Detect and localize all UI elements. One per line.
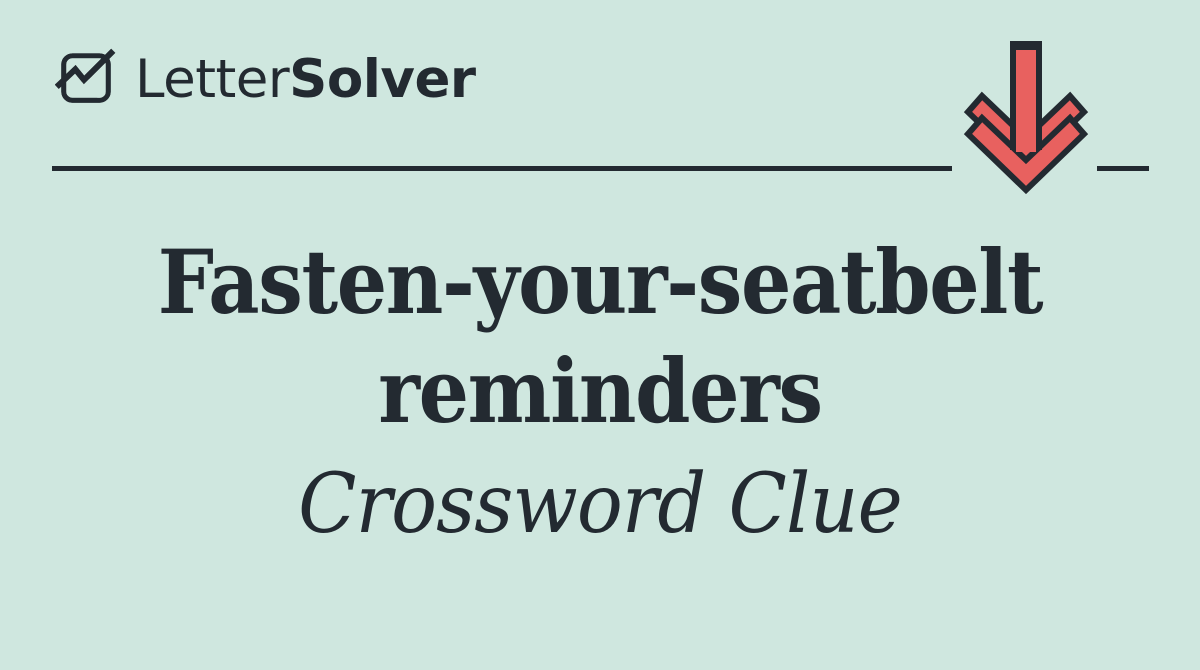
divider-rule-main	[52, 166, 952, 171]
page-title: Fasten-your-seatbelt reminders	[60, 228, 1140, 446]
page-root: LetterSolver Fasten-your-seatbelt remind…	[0, 0, 1200, 670]
checkbox-check-icon	[55, 48, 117, 110]
brand-name-bold: Solver	[289, 53, 475, 106]
divider-rule-tail	[1097, 166, 1149, 171]
brand-logo[interactable]: LetterSolver	[55, 44, 476, 114]
brand-wordmark: LetterSolver	[135, 53, 476, 106]
arrow-down-icon	[958, 38, 1094, 196]
headline-block: Fasten-your-seatbelt reminders Crossword…	[0, 228, 1200, 550]
page-subtitle: Crossword Clue	[42, 460, 1158, 550]
brand-name-light: Letter	[135, 53, 289, 106]
